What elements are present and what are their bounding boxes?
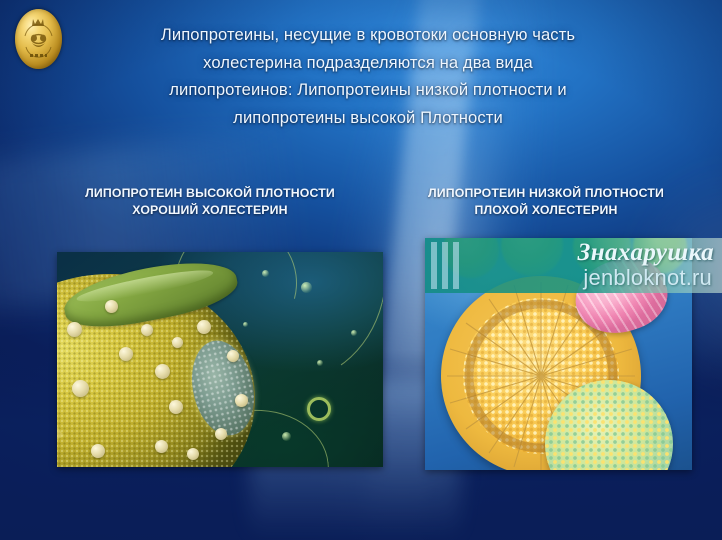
- caption-ldl-line-1: ЛИПОПРОТЕИН НИЗКОЙ ПЛОТНОСТИ: [398, 185, 694, 202]
- hdl-surface-bump: [215, 428, 227, 440]
- hdl-surface-bump: [155, 440, 168, 453]
- hdl-surface-bump: [187, 448, 199, 460]
- caption-ldl: ЛИПОПРОТЕИН НИЗКОЙ ПЛОТНОСТИ ПЛОХОЙ ХОЛЕ…: [398, 185, 694, 219]
- caption-ldl-line-2: ПЛОХОЙ ХОЛЕСТЕРИН: [398, 202, 694, 219]
- title-line-1: Липопротеины, несущие в кровотоки основн…: [78, 21, 658, 49]
- hdl-surface-bump: [91, 444, 105, 458]
- watermark-url: jenbloknot.ru: [583, 265, 712, 291]
- hdl-surface-bump: [197, 320, 211, 334]
- title-line-2: холестерина подразделяются на два вида: [78, 49, 658, 77]
- title-line-4: липопротеины высокой Плотности: [78, 104, 658, 132]
- caption-hdl: ЛИПОПРОТЕИН ВЫСОКОЙ ПЛОТНОСТИ ХОРОШИЙ ХО…: [42, 185, 378, 219]
- ldl-outer-leaflet-segment: [545, 380, 673, 470]
- hdl-ring-particle: [307, 397, 331, 421]
- hdl-surface-bump: [172, 337, 183, 348]
- hdl-surface-bump: [67, 322, 82, 337]
- slide-title: Липопротеины, несущие в кровотоки основн…: [78, 21, 658, 131]
- logo-emblem-icon: [15, 9, 62, 69]
- hdl-surface-bump: [141, 324, 153, 336]
- hdl-surface-bump: [119, 347, 133, 361]
- watermark-bars-icon: [431, 238, 465, 293]
- hdl-surface-bump: [105, 300, 118, 313]
- watermark-brand: Знахарушка: [578, 239, 714, 267]
- caption-hdl-line-2: ХОРОШИЙ ХОЛЕСТЕРИН: [42, 202, 378, 219]
- organization-logo: [15, 9, 62, 69]
- figure-hdl-particle: [57, 252, 383, 467]
- presentation-slide: Липопротеины, несущие в кровотоки основн…: [0, 0, 722, 540]
- watermark-banner: Знахарушка jenbloknot.ru: [425, 238, 722, 293]
- title-line-3: липопротеинов: Липопротеины низкой плотн…: [78, 76, 658, 104]
- hdl-surface-bump: [235, 394, 248, 407]
- hdl-surface-bump: [155, 364, 170, 379]
- hdl-surface-bump: [169, 400, 183, 414]
- hdl-surface-bump: [227, 350, 239, 362]
- caption-hdl-line-1: ЛИПОПРОТЕИН ВЫСОКОЙ ПЛОТНОСТИ: [42, 185, 378, 202]
- hdl-surface-bump: [72, 380, 89, 397]
